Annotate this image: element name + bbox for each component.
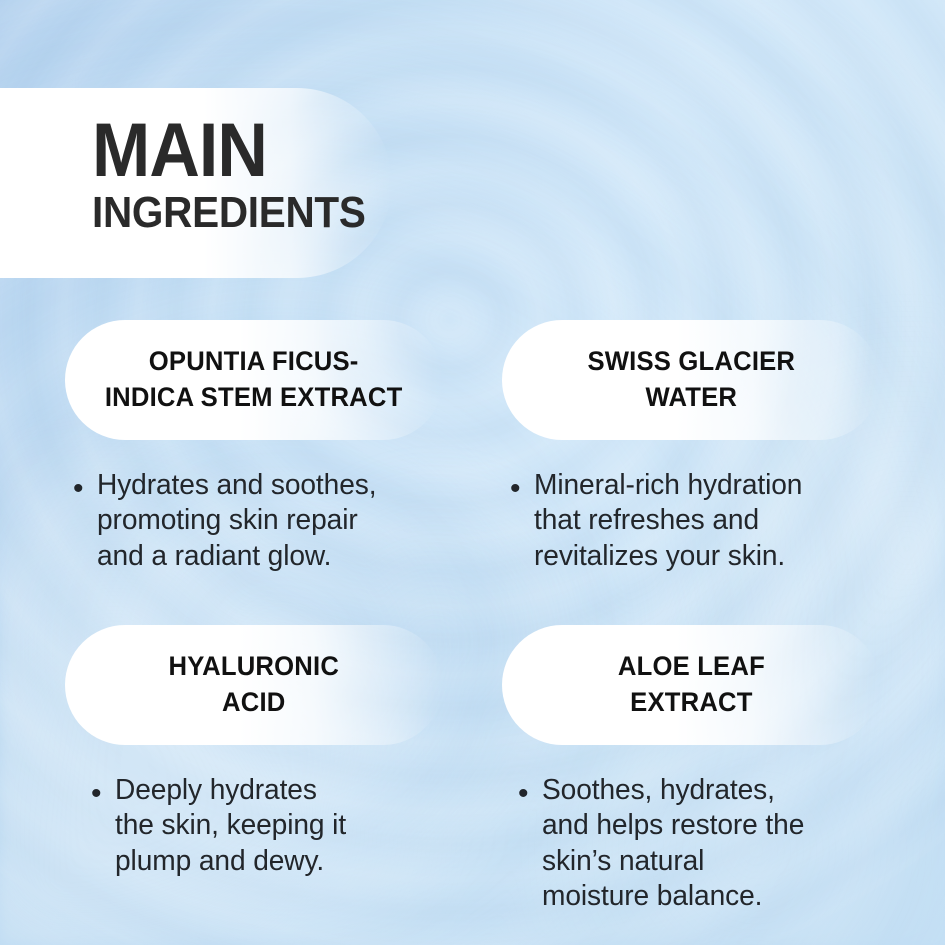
ingredient-card-opuntia-ficus-indica-stem-extract: OPUNTIA FICUS- INDICA STEM EXTRACT • Hyd… — [65, 320, 443, 574]
ingredient-name-line-2: INDICA STEM EXTRACT — [105, 382, 403, 412]
ingredient-card-swiss-glacier-water: SWISS GLACIER WATER • Mineral-rich hydra… — [502, 320, 880, 574]
ingredient-name-line-2: ACID — [222, 687, 285, 717]
page-title: MAIN INGREDIENTS — [92, 121, 389, 236]
ingredient-name-pill: HYALURONIC ACID — [65, 625, 443, 745]
ingredients-poster: MAIN INGREDIENTS OPUNTIA FICUS- INDICA S… — [0, 0, 945, 945]
ingredient-description: • Mineral-rich hydration that refreshes … — [502, 468, 852, 574]
ingredient-card-aloe-leaf-extract: ALOE LEAF EXTRACT • Soothes, hydrates, a… — [502, 625, 880, 915]
ingredient-description: • Hydrates and soothes, promoting skin r… — [65, 468, 395, 574]
ingredient-name-line-2: WATER — [645, 382, 737, 412]
ingredient-name-line-1: OPUNTIA FICUS- — [149, 346, 359, 376]
bullet-icon: • — [91, 779, 102, 809]
ingredient-description: • Soothes, hydrates, and helps restore t… — [502, 773, 822, 915]
header-panel: MAIN INGREDIENTS — [0, 88, 392, 278]
ingredient-name: HYALURONIC ACID — [152, 649, 357, 720]
ingredient-card-hyaluronic-acid: HYALURONIC ACID • Deeply hydrates the sk… — [65, 625, 443, 879]
ingredient-name-pill: ALOE LEAF EXTRACT — [502, 625, 880, 745]
bullet-icon: • — [73, 474, 84, 504]
ingredient-name-line-1: ALOE LEAF — [617, 651, 764, 681]
page-title-line-2: INGREDIENTS — [92, 190, 366, 236]
page-title-line-1: MAIN — [92, 121, 366, 182]
ingredient-description-text: Hydrates and soothes, promoting skin rep… — [97, 468, 387, 574]
ingredient-name: OPUNTIA FICUS- INDICA STEM EXTRACT — [88, 344, 420, 415]
ingredient-name-pill: SWISS GLACIER WATER — [502, 320, 880, 440]
ingredient-description-text: Mineral-rich hydration that refreshes an… — [534, 468, 843, 574]
bullet-icon: • — [510, 474, 521, 504]
ingredient-description-text: Soothes, hydrates, and helps restore the… — [542, 773, 814, 915]
ingredient-description-text: Deeply hydrates the skin, keeping it plu… — [115, 773, 358, 879]
ingredient-name: ALOE LEAF EXTRACT — [600, 649, 781, 720]
ingredient-name-line-2: EXTRACT — [630, 687, 752, 717]
ingredient-description: • Deeply hydrates the skin, keeping it p… — [65, 773, 365, 879]
ingredient-name-pill: OPUNTIA FICUS- INDICA STEM EXTRACT — [65, 320, 443, 440]
ingredient-name-line-1: SWISS GLACIER — [587, 346, 795, 376]
ingredient-name-line-1: HYALURONIC — [169, 651, 340, 681]
bullet-icon: • — [518, 779, 529, 809]
ingredient-name: SWISS GLACIER WATER — [570, 344, 812, 415]
